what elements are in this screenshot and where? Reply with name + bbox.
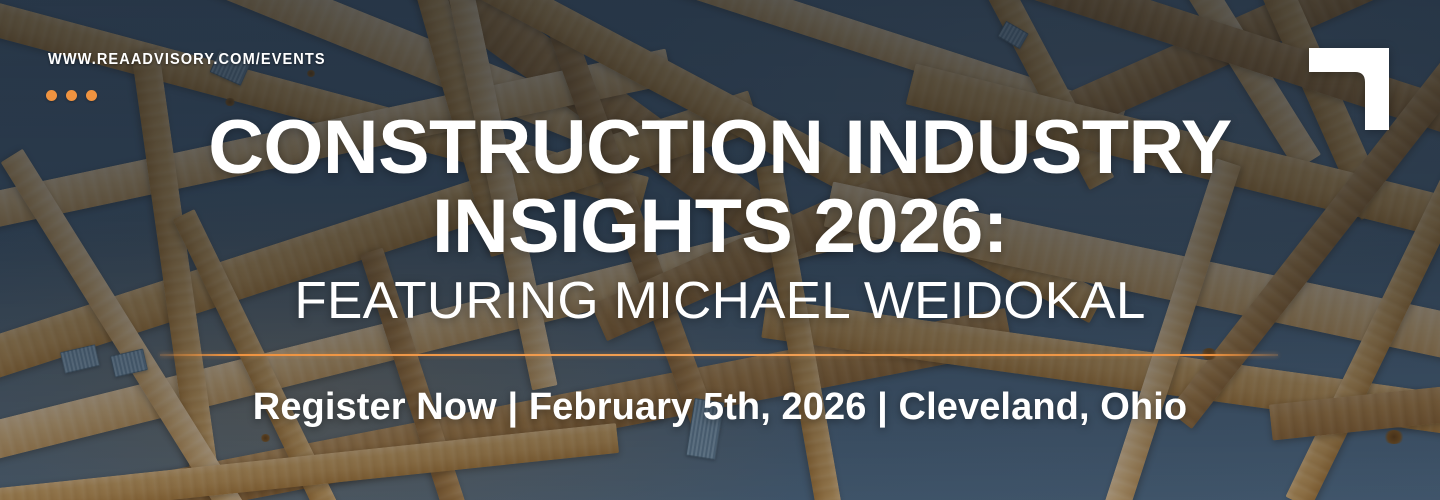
event-promo-banner: WWW.REAADVISORY.COM/EVENTS CONSTRUCTION …: [0, 0, 1440, 500]
divider-rule: [160, 354, 1278, 356]
headline-line-2: INSIGHTS 2026:: [0, 187, 1440, 266]
accent-dot-1: [46, 90, 57, 101]
subheadline-speaker: FEATURING MICHAEL WEIDOKAL: [0, 273, 1440, 329]
cta-register-details[interactable]: Register Now | February 5th, 2026 | Clev…: [0, 385, 1440, 429]
accent-dot-2: [66, 90, 77, 101]
accent-dots: [46, 90, 97, 101]
headline-line-1: CONSTRUCTION INDUSTRY: [0, 108, 1440, 187]
banner-content: WWW.REAADVISORY.COM/EVENTS CONSTRUCTION …: [0, 0, 1440, 500]
page-title: CONSTRUCTION INDUSTRY INSIGHTS 2026:: [0, 108, 1440, 266]
accent-dot-3: [86, 90, 97, 101]
website-url-label[interactable]: WWW.REAADVISORY.COM/EVENTS: [48, 51, 326, 69]
